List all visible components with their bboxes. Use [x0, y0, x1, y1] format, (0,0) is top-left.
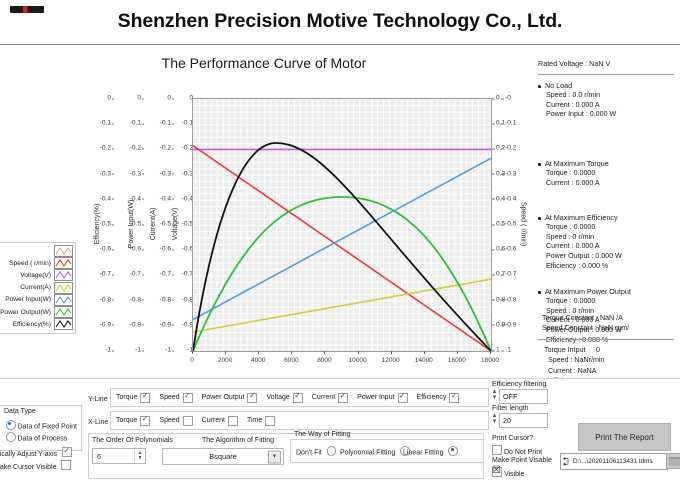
legend-item[interactable]: Voltage(V) — [0, 269, 73, 281]
info-block-title: At Maximum Torque — [538, 160, 609, 168]
series-speed — [193, 146, 491, 351]
x-tick-mark — [358, 351, 359, 354]
info-line: Power Input : 0.000 W — [538, 111, 616, 118]
info-block-title: No Load — [538, 82, 616, 90]
legend-swatch-icon — [54, 282, 73, 294]
stepper-icon[interactable]: ▲▼ — [134, 449, 145, 463]
legend-label: Power Output(W) — [0, 309, 51, 316]
algorithm-of-fitting-label: The Algorithm of Fitting — [202, 437, 274, 444]
line-toggle-checkbox[interactable] — [183, 393, 193, 403]
x-axis: 0200040006000800010000120001400016000180… — [192, 351, 490, 369]
y-tick: -0.8 — [505, 296, 516, 303]
do-not-print-label: Do Not Print — [504, 449, 542, 456]
visible-row[interactable]: Visible — [492, 467, 524, 478]
radio-process-label: Data of Process — [17, 436, 67, 443]
line-toggle-checkbox[interactable] — [247, 393, 257, 403]
page-title: Shenzhen Precision Motive Technology Co.… — [0, 10, 680, 33]
print-report-button[interactable]: Print The Report — [578, 423, 671, 451]
radio-polynomial-fitting[interactable]: Polynomial Fitting — [340, 446, 410, 457]
x-tick: 8000 — [317, 357, 331, 364]
radio-data-fixed-point[interactable]: Data of Fixed Point — [6, 420, 77, 431]
line-toggle-label: Current — [202, 417, 225, 424]
order-of-polynomials-input[interactable]: 6 ▲▼ — [92, 448, 146, 464]
info-block-title: At Maximum Power Output — [538, 288, 631, 296]
order-of-polynomials-label: The Order Of Polynomials — [92, 437, 173, 444]
auto-adjust-yaxis-row[interactable]: atically Adjust Y-axis — [0, 447, 72, 458]
efficiency-filtering-stepper[interactable]: ▲▼ — [490, 389, 499, 402]
torque-readout-line: Current : NaNA — [544, 368, 618, 375]
line-toggle-checkbox[interactable] — [398, 393, 408, 403]
line-toggle-label: Power Output — [202, 394, 245, 401]
yline-row[interactable]: TorqueSpeedPower OutputVoltageCurrentPow… — [110, 388, 489, 407]
efficiency-filtering-value[interactable]: OFF — [499, 389, 548, 404]
y-tick: -1 — [505, 347, 511, 354]
controls-panel: Data Type Data of Fixed Point Data of Pr… — [0, 378, 680, 480]
x-tick-mark — [324, 351, 325, 354]
legend-item[interactable]: Speed ( r/min) — [0, 257, 73, 269]
radio-linear-fitting-label: Linear Fitting — [403, 450, 443, 457]
x-tick: 10000 — [349, 357, 367, 364]
info-line: Current : 0.000 A — [538, 180, 609, 187]
x-tick-mark — [192, 351, 193, 354]
filter-length-stepper[interactable]: ▲▼ — [490, 413, 499, 426]
line-toggle-checkbox[interactable] — [265, 416, 275, 426]
constant-line: Torque Constant : NaN /A — [542, 315, 629, 322]
make-point-visable-title: Make Point Visable — [492, 457, 552, 464]
radio-fixed-point-label: Data of Fixed Point — [17, 424, 77, 431]
do-not-print-checkbox[interactable] — [492, 445, 502, 455]
legend-item[interactable]: Power Output(W) — [0, 306, 73, 318]
y-axis-label: Voltage(V) — [172, 208, 179, 241]
line-toggle[interactable]: Voltage — [266, 393, 302, 403]
legend-label: Power Input(W) — [5, 296, 51, 303]
y-tick: -0.9 — [505, 321, 516, 328]
folder-icon[interactable] — [666, 453, 680, 469]
radio-fixed-point-icon[interactable] — [6, 420, 16, 430]
line-toggle-label: Speed — [159, 417, 179, 424]
file-path-field[interactable]: D:\...\20201106113431.tdms — [560, 453, 668, 470]
y-tick: -0 — [505, 95, 511, 102]
legend-label: Voltage(V) — [20, 272, 51, 279]
line-toggle[interactable]: Current — [312, 393, 348, 403]
torque-input-label: Torque Intput — [544, 347, 596, 354]
radio-linear-fitting[interactable]: Linear Fitting — [403, 446, 458, 457]
do-not-print-row[interactable]: Do Not Print — [492, 445, 542, 456]
y-tick: -0.7 — [505, 271, 516, 278]
make-cursor-visible-row[interactable]: Make Cursor Visible — [0, 460, 71, 471]
filter-length-label: Filter length — [492, 405, 529, 412]
line-toggle[interactable]: Speed — [159, 416, 192, 426]
y-tick: -0.4 — [505, 195, 516, 202]
info-line: Speed : 0.0 r/min — [538, 92, 616, 99]
y-axis-efficiency: 0-0.1-0.2-0.3-0.4-0.5-0.6-0.7-0.8-0.9-1E… — [80, 98, 114, 350]
info-divider-top — [538, 74, 674, 75]
visible-checkbox[interactable] — [492, 467, 502, 477]
legend-item[interactable]: Current(A) — [0, 282, 73, 294]
torque-input-row[interactable]: Torque Intput0 — [544, 347, 618, 354]
line-toggle-checkbox[interactable] — [183, 416, 193, 426]
line-toggle[interactable]: Power Input — [357, 393, 407, 403]
legend-swatch-icon — [54, 257, 73, 269]
legend-label: Current(A) — [20, 284, 51, 291]
legend-swatch-icon — [54, 294, 73, 306]
line-toggle-label: Speed — [159, 394, 179, 401]
line-toggle[interactable]: Time — [247, 416, 275, 426]
app-header: Shenzhen Precision Motive Technology Co.… — [0, 0, 680, 41]
y-axis-label: Current(A) — [150, 208, 157, 241]
constant-line: Speed Constant : NaN rpm/ — [542, 325, 629, 332]
y-tick: -0.6 — [505, 246, 516, 253]
info-block: No LoadSpeed : 0.0 r/minCurrent : 0.000 … — [538, 82, 616, 121]
x-tick: 2000 — [218, 357, 232, 364]
auto-adjust-label: atically Adjust Y-axis — [0, 451, 57, 458]
line-toggle-checkbox[interactable] — [140, 393, 150, 403]
y-tick: -0.2 — [505, 145, 516, 152]
info-block: At Maximum TorqueTorque : 0.0000Current … — [538, 160, 609, 189]
x-tick: 14000 — [415, 357, 433, 364]
x-tick-mark — [225, 351, 226, 354]
info-panel: Rated Voltage : NaN V No LoadSpeed : 0.0… — [530, 50, 680, 380]
plot-area[interactable] — [192, 98, 492, 352]
info-line: Torque : 0.0000 — [538, 224, 622, 231]
radio-polynomial-fitting-label: Polynomial Fitting — [340, 450, 395, 457]
efficiency-filtering-label: Efficiency filtering — [492, 381, 546, 388]
x-tick-mark — [490, 351, 491, 354]
legend-item[interactable]: Power Input(W) — [0, 294, 73, 306]
line-toggle-checkbox[interactable] — [228, 416, 238, 426]
info-line: Power Output : 0.000 W — [538, 253, 622, 260]
line-toggle[interactable]: Efficiency — [417, 393, 460, 403]
line-toggle-checkbox[interactable] — [140, 416, 150, 426]
visible-label: Visible — [504, 471, 525, 478]
series-power-output — [193, 197, 491, 351]
torque-input-value: 0 — [596, 347, 600, 354]
line-toggle-checkbox[interactable] — [293, 393, 303, 403]
yline-label: Y-Line — [88, 396, 108, 403]
y-tick: -0.5 — [505, 221, 516, 228]
line-toggle-label: Power Input — [357, 394, 394, 401]
y-tick: -0.1 — [505, 120, 516, 127]
motor-performance-app: Shenzhen Precision Motive Technology Co.… — [0, 0, 680, 479]
info-line: Torque : 0.0000 — [538, 298, 631, 305]
x-tick: 0 — [190, 357, 194, 364]
order-of-polynomials-value: 6 — [93, 452, 134, 461]
line-toggle[interactable]: Current — [202, 416, 238, 426]
info-block-title: At Maximum Efficiency — [538, 214, 622, 222]
line-toggle-label: Current — [312, 394, 335, 401]
torque-readout-line: Speed : NaNr/min — [544, 357, 618, 364]
y-axis-label: Power Input(W) — [128, 200, 135, 249]
line-toggle[interactable]: Speed — [159, 393, 192, 403]
info-line: Efficiency : 0.000 % — [538, 263, 622, 270]
chart-title: The Performance Curve of Motor — [0, 55, 528, 71]
legend-item[interactable] — [0, 245, 73, 257]
info-divider-bottom — [538, 339, 674, 340]
chart-legend[interactable]: Speed ( r/min)Voltage(V)Current(A)Power … — [0, 242, 76, 334]
header-divider — [0, 44, 680, 45]
radio-process-icon[interactable] — [6, 432, 16, 442]
radio-linear-fitting-icon[interactable] — [448, 446, 458, 456]
radio-data-of-process[interactable]: Data of Process — [6, 432, 67, 443]
legend-label: Efficiency(%) — [13, 321, 51, 328]
data-type-title: Data Type — [2, 408, 38, 415]
legend-item[interactable]: Efficiency(%) — [0, 318, 73, 330]
line-toggle-label: Torque — [116, 394, 137, 401]
x-tick-mark — [457, 351, 458, 354]
legend-swatch-icon — [54, 318, 73, 330]
print-cursor-title: Print Cursor? — [492, 435, 533, 442]
x-tick: 16000 — [448, 357, 466, 364]
way-of-fitting-label: The Way of Fitting — [294, 431, 351, 438]
line-toggle-label: Time — [247, 417, 262, 424]
line-toggle[interactable]: Torque — [116, 416, 150, 426]
algorithm-of-fitting-select[interactable]: Bsquare ▼ — [162, 448, 284, 465]
filter-length-value[interactable]: 20 — [499, 413, 548, 428]
x-tick: 4000 — [251, 357, 265, 364]
x-tick-mark — [391, 351, 392, 354]
info-line: Current : 0.000 A — [538, 102, 616, 109]
x-tick: 6000 — [284, 357, 298, 364]
info-block: At Maximum EfficiencyTorque : 0.0000Spee… — [538, 214, 622, 272]
rated-voltage: Rated Voltage : NaN V — [538, 60, 610, 68]
radio-dont-fit[interactable]: Don't Fit — [296, 446, 336, 457]
line-toggle[interactable]: Torque — [116, 393, 150, 403]
curves — [193, 99, 491, 351]
legend-label: Speed ( r/min) — [9, 260, 51, 267]
make-cursor-visible-label: Make Cursor Visible — [0, 464, 57, 471]
x-tick-mark — [291, 351, 292, 354]
legend-swatch-icon — [54, 245, 73, 257]
radio-dont-fit-label: Don't Fit — [296, 450, 322, 457]
path-control-icon — [563, 457, 571, 466]
line-toggle-checkbox[interactable] — [449, 393, 459, 403]
chevron-down-icon[interactable]: ▼ — [268, 450, 281, 463]
y-axis-power-input: 0-0.1-0.2-0.3-0.4-0.5-0.6-0.7-0.8-0.9-1P… — [110, 98, 144, 350]
chart-panel: The Performance Curve of Motor 0-0.1-0.2… — [0, 46, 528, 376]
info-line: Torque : 0.0000 — [538, 170, 609, 177]
series-current — [193, 279, 491, 332]
line-toggle[interactable]: Power Output — [202, 393, 258, 403]
x-tick: 12000 — [382, 357, 400, 364]
line-toggle-checkbox[interactable] — [338, 393, 348, 403]
info-line: Efficiency : 0.000 % — [538, 337, 631, 344]
motor-constants: Torque Constant : NaN /ASpeed Constant :… — [542, 315, 629, 336]
x-tick-mark — [424, 351, 425, 354]
y-axis-label: Efficiency(%) — [94, 204, 101, 245]
info-line: Speed : 0 r/min — [538, 234, 622, 241]
radio-dont-fit-icon[interactable] — [327, 446, 337, 456]
xline-row[interactable]: TorqueSpeedCurrentTime — [110, 411, 489, 430]
make-cursor-visible-checkbox[interactable] — [61, 460, 71, 470]
line-toggle-label: Torque — [116, 417, 137, 424]
xline-label: X-Line — [88, 419, 108, 426]
line-toggle-label: Voltage — [266, 394, 289, 401]
file-path-text: D:\...\20201106113431.tdms — [573, 458, 653, 465]
line-toggle-label: Efficiency — [417, 394, 447, 401]
algorithm-of-fitting-value: Bsquare — [209, 452, 237, 461]
y-axis-voltage: 0-0.1-0.2-0.3-0.4-0.5-0.6-0.7-0.8-0.9-1V… — [162, 98, 196, 350]
x-tick-mark — [258, 351, 259, 354]
legend-swatch-icon — [54, 306, 73, 318]
info-line: Current : 0.000 A — [538, 243, 622, 250]
auto-adjust-checkbox[interactable] — [62, 447, 72, 457]
legend-swatch-icon — [54, 269, 73, 281]
y-tick: -0.3 — [505, 170, 516, 177]
x-tick: 18000 — [481, 357, 499, 364]
